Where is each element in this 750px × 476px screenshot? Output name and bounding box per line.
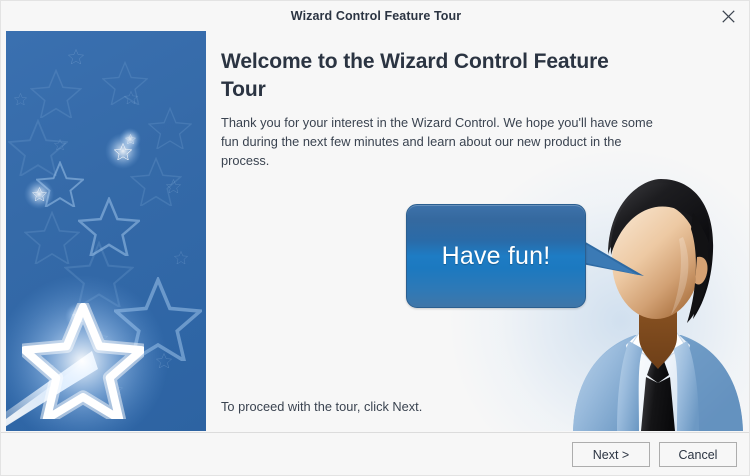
speech-bubble: Have fun! xyxy=(406,204,596,308)
title-bar: Wizard Control Feature Tour xyxy=(1,1,750,31)
wizard-dialog: Wizard Control Feature Tour xyxy=(0,0,750,476)
footer-bar: Next > Cancel xyxy=(1,433,750,476)
stars-magic-wand-graphic xyxy=(6,31,206,431)
close-icon[interactable] xyxy=(713,4,743,28)
proceed-instruction: To proceed with the tour, click Next. xyxy=(221,399,422,414)
speech-bubble-tail xyxy=(582,236,646,282)
intro-paragraph: Thank you for your interest in the Wizar… xyxy=(221,114,661,171)
window-title: Wizard Control Feature Tour xyxy=(291,9,461,23)
decorative-star-panel xyxy=(6,31,206,431)
speech-bubble-text: Have fun! xyxy=(406,204,586,308)
cancel-button[interactable]: Cancel xyxy=(659,442,737,467)
page-title: Welcome to the Wizard Control Feature To… xyxy=(221,48,621,103)
next-button[interactable]: Next > xyxy=(572,442,650,467)
footer-button-group: Next > Cancel xyxy=(572,442,737,467)
content-area: Welcome to the Wizard Control Feature To… xyxy=(206,31,750,431)
